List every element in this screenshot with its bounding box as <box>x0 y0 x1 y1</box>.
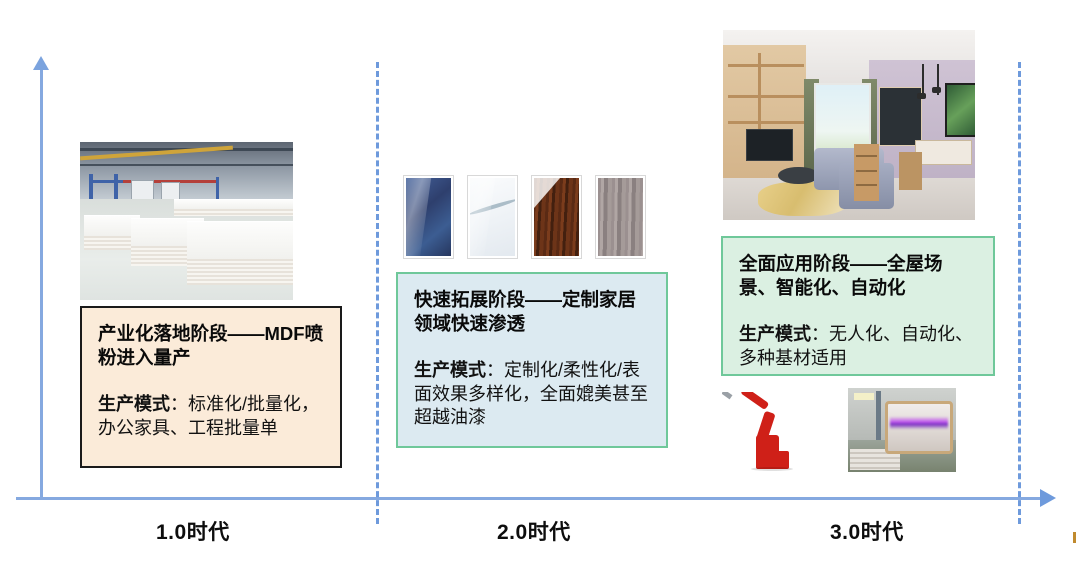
era-divider-2 <box>1018 62 1021 524</box>
swatch-grey-wood <box>596 176 645 258</box>
uv-coating-machine-photo <box>848 388 956 472</box>
x-axis-line <box>16 497 1046 500</box>
swatch-gloss-blue <box>404 176 453 258</box>
factory-mdf-panels-photo <box>80 142 293 300</box>
era-2-production-mode: 生产模式：定制化/柔性化/表面效果多样化，全面媲美甚至超越油漆 <box>414 359 650 430</box>
era-2-mode-separator: ： <box>486 360 504 380</box>
living-room-interior-render <box>723 30 975 220</box>
era-1-callout: 产业化落地阶段——MDF喷粉进入量产 生产模式：标准化/批量化，办公家具、工程批… <box>80 306 342 468</box>
era-2-mode-label: 生产模式 <box>414 360 486 380</box>
era-3-callout: 全面应用阶段——全屋场景、智能化、自动化 生产模式：无人化、自动化、多种基材适用 <box>721 236 995 376</box>
era-label-3: 3.0时代 <box>830 516 904 546</box>
x-axis-arrow-icon <box>1040 489 1056 507</box>
era-label-1: 1.0时代 <box>156 516 230 546</box>
era-divider-1 <box>376 62 379 524</box>
era-1-production-mode: 生产模式：标准化/批量化，办公家具、工程批量单 <box>98 393 324 441</box>
timeline-figure: 产业化落地阶段——MDF喷粉进入量产 生产模式：标准化/批量化，办公家具、工程批… <box>0 0 1080 567</box>
industrial-robot-arm-photo <box>722 392 806 472</box>
era-1-headline: 产业化落地阶段——MDF喷粉进入量产 <box>98 322 324 371</box>
era-3-production-mode: 生产模式：无人化、自动化、多种基材适用 <box>739 323 977 371</box>
y-axis-line <box>40 68 43 498</box>
era-2-callout: 快速拓展阶段——定制家居领域快速渗透 生产模式：定制化/柔性化/表面效果多样化，… <box>396 272 668 448</box>
swatch-white-marble <box>468 176 517 258</box>
era-3-mode-label: 生产模式 <box>739 324 811 344</box>
era-1-mode-separator: ： <box>170 394 188 414</box>
era-3-mode-separator: ： <box>811 324 829 344</box>
swatch-dark-wood <box>532 176 581 258</box>
era-2-headline: 快速拓展阶段——定制家居领域快速渗透 <box>414 288 650 337</box>
era-3-headline: 全面应用阶段——全屋场景、智能化、自动化 <box>739 252 977 301</box>
y-axis-arrow-icon <box>33 56 49 70</box>
stray-orange-mark <box>1073 532 1076 543</box>
era-1-mode-label: 生产模式 <box>98 394 170 414</box>
era-label-2: 2.0时代 <box>497 516 571 546</box>
